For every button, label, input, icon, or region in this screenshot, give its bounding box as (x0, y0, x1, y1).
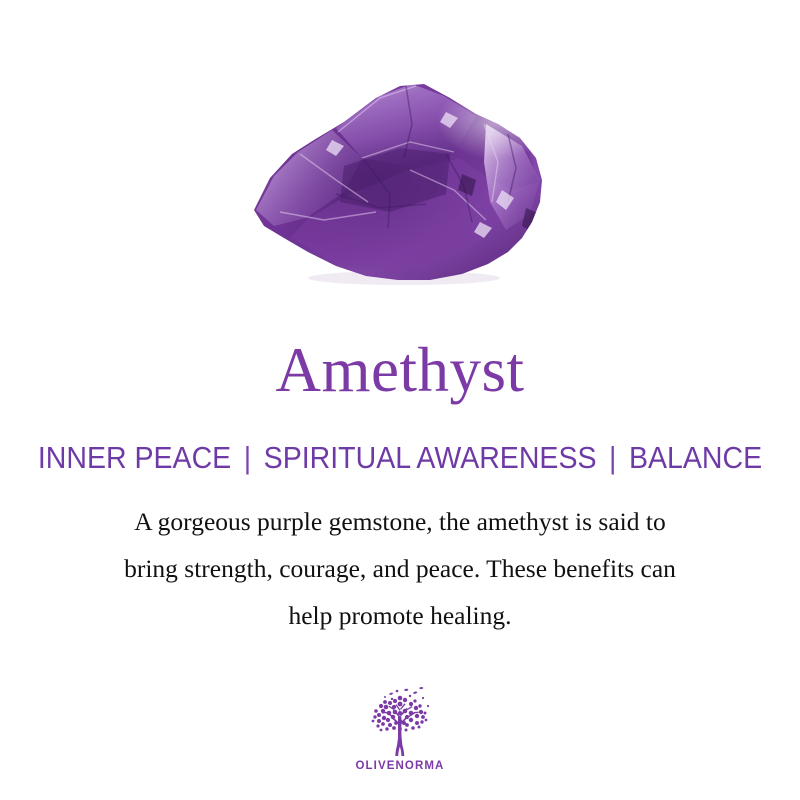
keyword-spiritual-awareness: SPIRITUAL AWARENESS (264, 440, 597, 475)
brand-wordmark: OLIVENORMA (0, 760, 800, 772)
description-text: A gorgeous purple gemstone, the amethyst… (62, 498, 738, 639)
description-line: help promote healing. (62, 592, 738, 639)
keyword-separator: | (604, 440, 621, 475)
keyword-list: INNER PEACE | SPIRITUAL AWARENESS | BALA… (32, 440, 768, 476)
product-info-card: Amethyst INNER PEACE | SPIRITUAL AWARENE… (0, 0, 800, 800)
brand-logo: OLIVENORMA (0, 682, 800, 772)
amethyst-stone-image (240, 62, 560, 297)
page-title: Amethyst (0, 336, 800, 404)
description-line: A gorgeous purple gemstone, the amethyst… (62, 498, 738, 545)
hero-image-container (0, 62, 800, 302)
description-line: bring strength, courage, and peace. Thes… (62, 545, 738, 592)
olive-tree-icon (359, 682, 441, 758)
keyword-inner-peace: INNER PEACE (38, 440, 231, 475)
keyword-balance: BALANCE (629, 440, 762, 475)
keyword-separator: | (239, 440, 256, 475)
